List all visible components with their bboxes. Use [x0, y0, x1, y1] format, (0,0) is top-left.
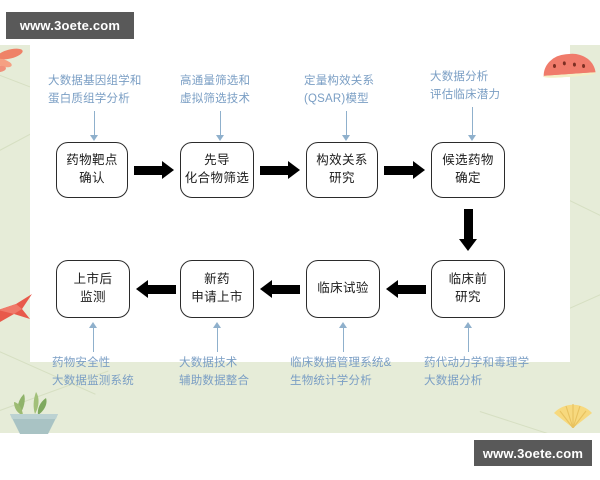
annotation-n3: 定量构效关系 (QSAR)模型: [304, 73, 374, 109]
node-sar-study[interactable]: 构效关系 研究: [306, 142, 378, 198]
connector-annotation-n6: [339, 322, 348, 352]
annotation-n7: 大数据技术 辅助数据整合: [179, 355, 249, 391]
watermark-top: www.3oete.com: [6, 12, 134, 39]
node-candidate-drug[interactable]: 候选药物 确定: [431, 142, 505, 198]
connector-annotation-n2: [216, 111, 225, 141]
arrow-n2-to-n3: [260, 161, 300, 180]
connector-annotation-n4: [468, 107, 477, 141]
watermark-bottom: www.3oete.com: [474, 440, 592, 466]
arrow-n6-to-n7: [260, 280, 300, 299]
annotation-n4: 大数据分析 评估临床潜力: [430, 69, 500, 105]
annotation-n2: 高通量筛选和 虚拟筛选技术: [180, 73, 250, 109]
arrow-n3-to-n4: [384, 161, 425, 180]
annotation-n8: 药物安全性 大数据监测系统: [52, 355, 134, 391]
annotation-n5: 药代动力学和毒理学 大数据分析: [424, 355, 529, 391]
node-preclinical[interactable]: 临床前 研究: [431, 260, 505, 318]
connector-annotation-n5: [464, 322, 473, 352]
node-lead-compound[interactable]: 先导 化合物筛选: [180, 142, 254, 198]
arrow-n1-to-n2: [134, 161, 174, 180]
arrow-n4-to-n5: [459, 209, 478, 251]
connector-annotation-n7: [213, 322, 222, 352]
arrow-n5-to-n6: [386, 280, 426, 299]
orange-leaf-icon: [0, 45, 34, 73]
connector-annotation-n3: [342, 111, 351, 141]
node-drug-target[interactable]: 药物靶点 确认: [56, 142, 128, 198]
flowchart: 大数据基因组学和 蛋白质组学分析 高通量筛选和 虚拟筛选技术 定量构效关系 (Q…: [30, 59, 570, 407]
node-post-market[interactable]: 上市后 监测: [56, 260, 130, 318]
annotation-n6: 临床数据管理系统& 生物统计学分析: [290, 355, 391, 391]
node-nda-submission[interactable]: 新药 申请上市: [180, 260, 254, 318]
connector-annotation-n1: [90, 111, 99, 141]
arrow-n7-to-n8: [136, 280, 176, 299]
node-clinical-trial[interactable]: 临床试验: [306, 260, 380, 318]
annotation-n1: 大数据基因组学和 蛋白质组学分析: [48, 73, 142, 109]
connector-annotation-n8: [89, 322, 98, 352]
